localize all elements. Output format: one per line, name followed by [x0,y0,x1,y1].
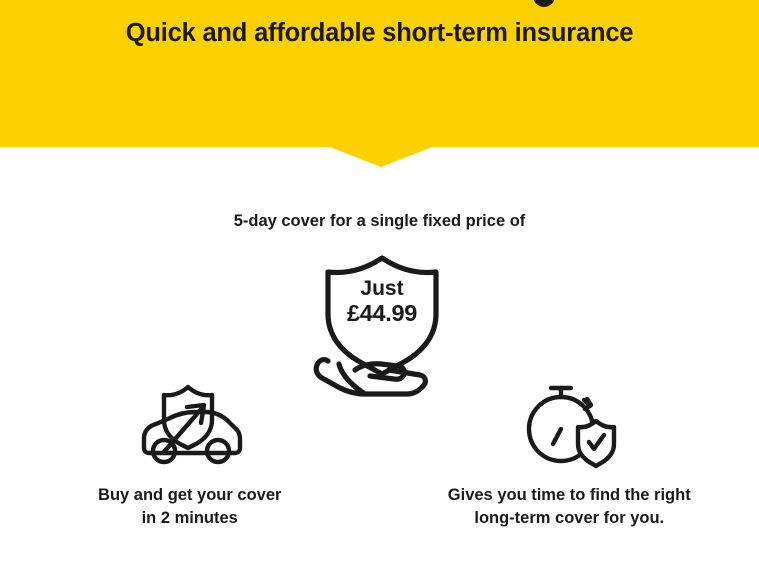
feature-label-quick-cover: Buy and get your cover in 2 minutes [98,484,281,531]
feature-item-time-to-choose: Gives you time to find the right long-te… [380,378,759,531]
car-shield-arrow-icon [130,378,250,470]
clipped-headline-descender [533,0,555,7]
feature-item-quick-cover: Buy and get your cover in 2 minutes [0,378,380,531]
features-row: Buy and get your cover in 2 minutes Give… [0,378,759,531]
shield-in-hand-icon [306,252,458,397]
stopwatch-shield-check-icon [509,378,629,470]
banner-notch-triangle-icon [330,147,432,167]
yellow-banner: Quick and affordable short-term insuranc… [0,0,759,147]
price-intro-text: 5-day cover for a single fixed price of [0,212,759,231]
feature-label-time-to-choose: Gives you time to find the right long-te… [448,484,691,531]
banner-heading: Quick and affordable short-term insuranc… [0,18,759,49]
